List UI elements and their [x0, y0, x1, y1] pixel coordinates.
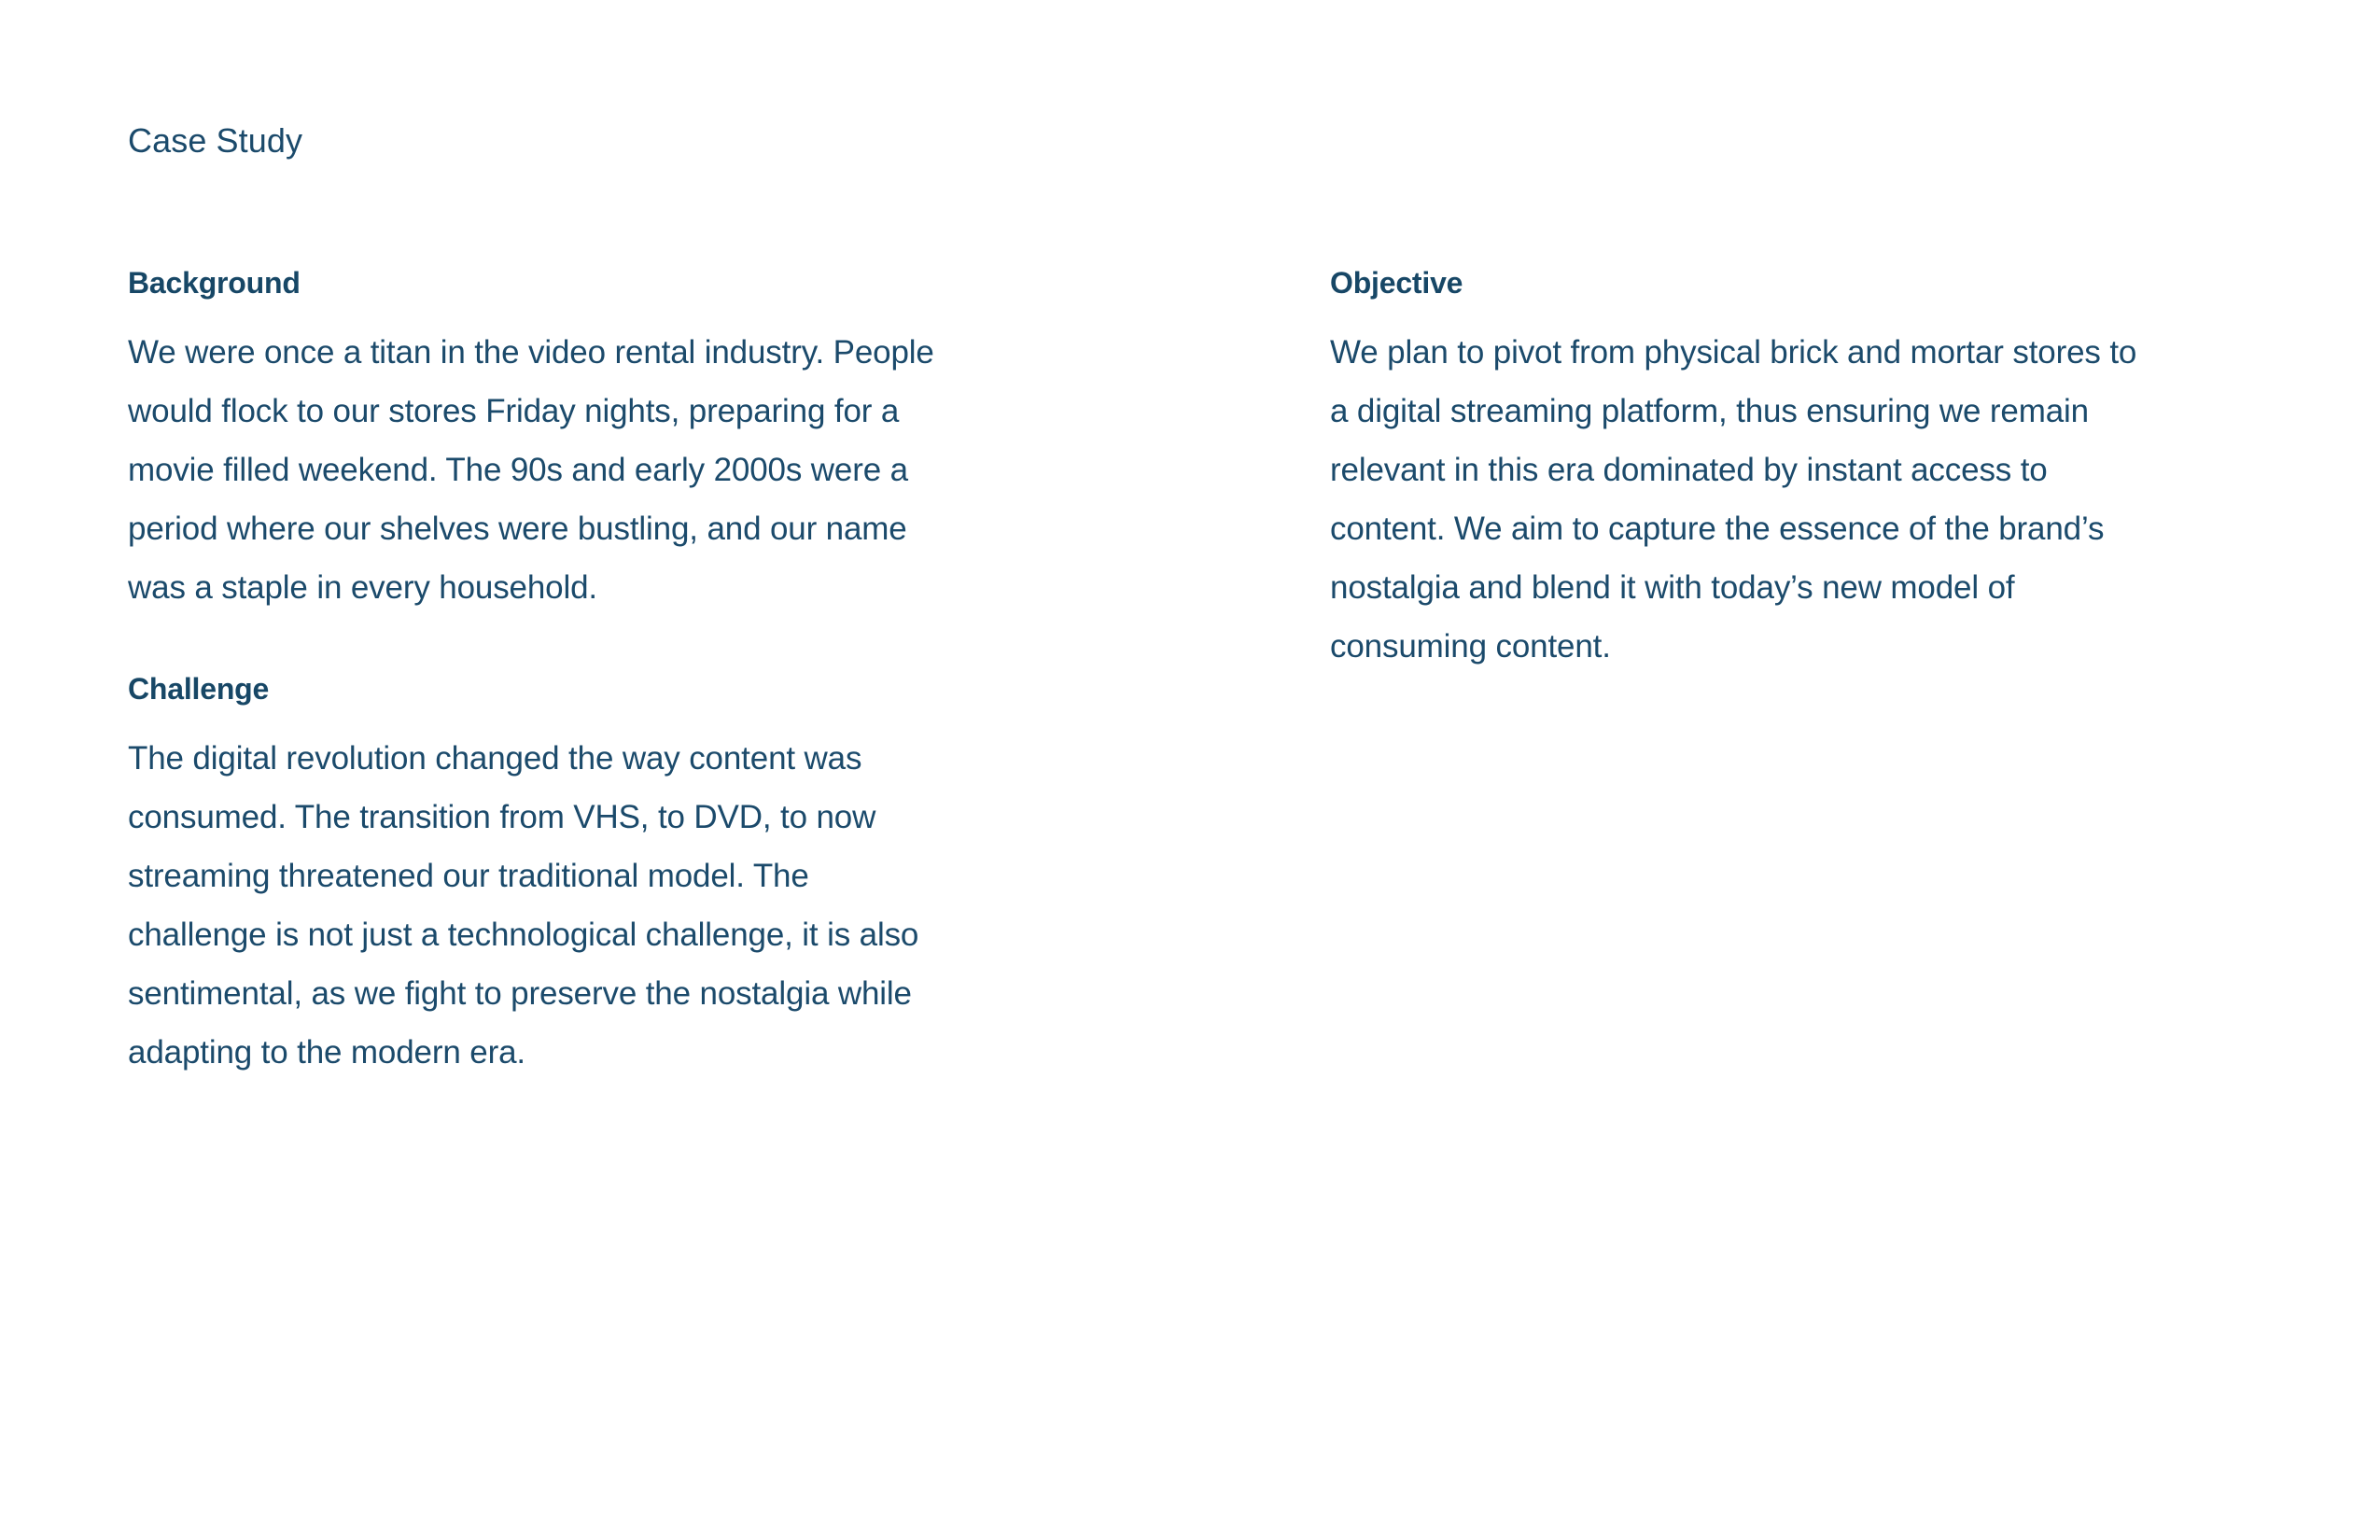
slide-eyebrow-label: Case Study — [128, 119, 302, 162]
section-heading-objective: Objective — [1330, 263, 2144, 302]
section-heading-challenge: Challenge — [128, 669, 942, 708]
section-body-background: We were once a titan in the video rental… — [128, 323, 942, 617]
section-heading-background: Background — [128, 263, 942, 302]
section-background: Background We were once a titan in the v… — [128, 263, 942, 617]
section-body-challenge: The digital revolution changed the way c… — [128, 729, 942, 1082]
case-study-slide: Case Study Background We were once a tit… — [0, 0, 2380, 1540]
section-challenge: Challenge The digital revolution changed… — [128, 669, 942, 1082]
content-columns: Background We were once a titan in the v… — [128, 263, 2256, 1082]
section-objective: Objective We plan to pivot from physical… — [1330, 263, 2144, 676]
left-column: Background We were once a titan in the v… — [128, 263, 942, 1082]
section-body-objective: We plan to pivot from physical brick and… — [1330, 323, 2144, 676]
right-column: Objective We plan to pivot from physical… — [1330, 263, 2144, 676]
